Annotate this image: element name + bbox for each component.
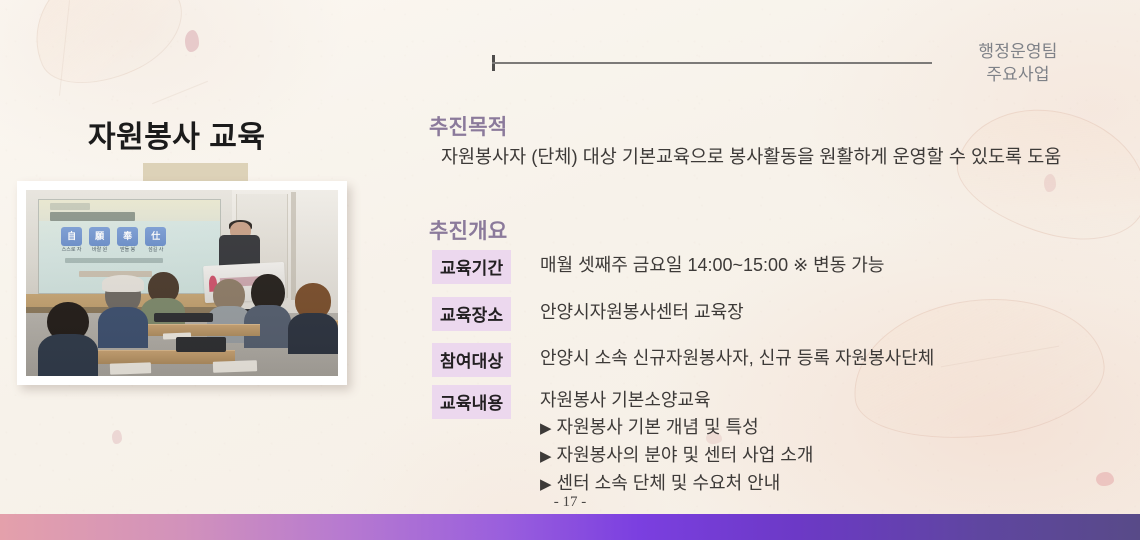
page-title: 자원봉사 교육	[88, 112, 265, 156]
content-bullet-2: ▶자원봉사의 분야 및 센터 사업 소개	[540, 442, 1100, 470]
row-tag-location: 교육장소	[432, 297, 511, 331]
photo-slide-char-box: 仕	[145, 227, 166, 246]
row-value-content: 자원봉사 기본소양교육 ▶자원봉사 기본 개념 및 특성 ▶자원봉사의 분야 및…	[540, 387, 1100, 498]
photo-slide-logo	[50, 203, 90, 210]
photo-slide-char: 自	[61, 227, 82, 242]
content-bullet-3-text: 센터 소속 단체 및 수요처 안내	[557, 473, 781, 493]
photo-slide-reading: 바랄 원	[89, 248, 110, 253]
lecture-photo: 自 願 奉 仕 스스로 자 바랄 원 받들 봉 섬길 사	[26, 190, 338, 376]
page-number: - 17 -	[0, 494, 1140, 511]
photo-microphone	[176, 337, 226, 352]
photo-handout	[213, 360, 257, 373]
row-tag-content: 교육내용	[432, 385, 511, 419]
row-value-period: 매월 셋째주 금요일 14:00~15:00 ※ 변동 가능	[540, 252, 884, 279]
row-value-audience: 안양시 소속 신규자원봉사자, 신규 등록 자원봉사단체	[540, 345, 934, 372]
triangle-bullet-icon: ▶	[540, 415, 552, 442]
photo-slide-char-box: 願	[89, 227, 110, 246]
photo-slide-char: 願	[89, 227, 110, 242]
footer-gradient-bar	[0, 514, 1140, 540]
section-heading-purpose: 추진목적	[429, 111, 507, 141]
photo-slide-char: 仕	[145, 227, 166, 242]
photo-handout	[110, 362, 151, 375]
header-team-label: 행정운영팀 주요사업	[918, 40, 1118, 86]
photo-slide-char-box: 奉	[117, 227, 138, 246]
photo-slide-char: 奉	[117, 227, 138, 242]
content-bullet-1: ▶자원봉사 기본 개념 및 특성	[540, 414, 1100, 442]
triangle-bullet-icon: ▶	[540, 443, 552, 470]
photo-attendee	[244, 274, 291, 348]
row-value-location: 안양시자원봉사센터 교육장	[540, 299, 744, 326]
lecture-photo-frame: 自 願 奉 仕 스스로 자 바랄 원 받들 봉 섬길 사	[17, 181, 347, 385]
slide-canvas: 행정운영팀 주요사업 자원봉사 교육 自 願 奉 仕 스스로 자 바랄 원	[0, 0, 1140, 540]
photo-attendee	[98, 277, 148, 348]
photo-attendee	[38, 302, 97, 376]
section-heading-overview: 추진개요	[429, 215, 507, 245]
purpose-body-text: 자원봉사자 (단체) 대상 기본교육으로 봉사활동을 원활하게 운영할 수 있도…	[441, 142, 1073, 172]
content-bullet-2-text: 자원봉사의 분야 및 센터 사업 소개	[557, 445, 814, 465]
photo-slide-reading: 섬길 사	[145, 248, 166, 253]
photo-slide-char-box: 自	[61, 227, 82, 246]
content-intro: 자원봉사 기본소양교육	[540, 387, 1100, 414]
photo-microphone	[154, 313, 213, 322]
header-rule	[492, 62, 932, 64]
photo-slide-body-line	[65, 258, 163, 263]
row-tag-period: 교육기간	[432, 250, 511, 284]
header-team-line-2: 주요사업	[918, 63, 1118, 86]
photo-slide-reading: 받들 봉	[117, 248, 138, 253]
photo-slide-reading: 스스로 자	[61, 248, 82, 253]
content-bullet-1-text: 자원봉사 기본 개념 및 특성	[557, 417, 759, 437]
photo-slide-title	[50, 212, 135, 220]
header-team-line-1: 행정운영팀	[918, 40, 1118, 63]
row-tag-audience: 참여대상	[432, 343, 511, 377]
photo-attendee	[288, 283, 338, 354]
